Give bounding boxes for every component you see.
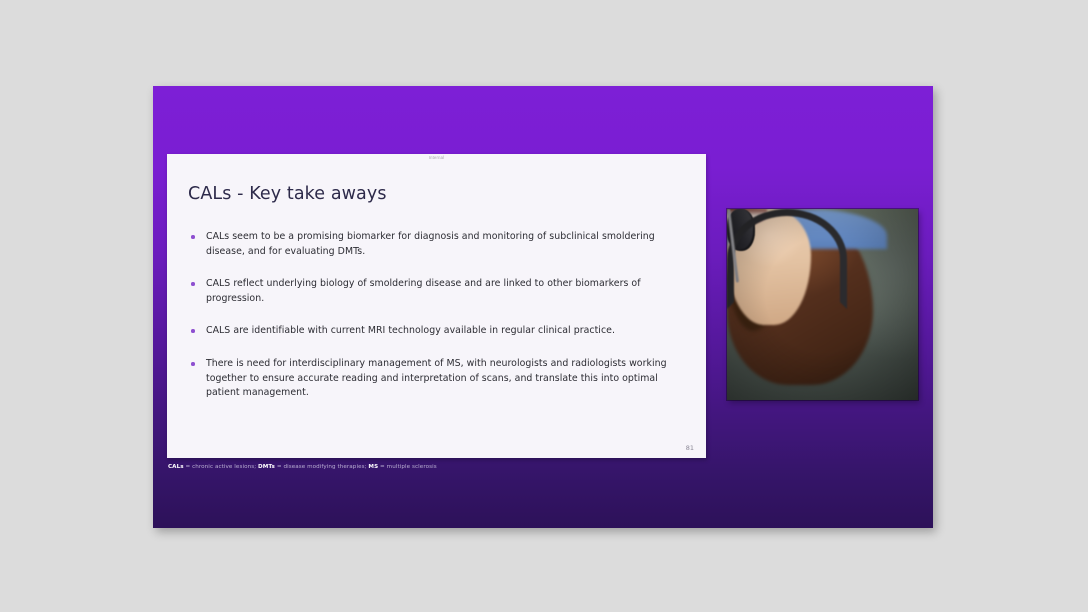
bullet-text: There is need for interdisciplinary mana… — [206, 358, 667, 398]
list-item: CALS are identifiable with current MRI t… — [188, 324, 688, 339]
bullet-dot-icon — [191, 235, 195, 239]
slide-title: CALs - Key take aways — [188, 184, 387, 204]
footnote-term: DMTs — [258, 464, 275, 470]
bullet-text: CALs seem to be a promising biomarker fo… — [206, 231, 655, 257]
list-item: CALs seem to be a promising biomarker fo… — [188, 230, 688, 259]
bullet-text: CALS reflect underlying biology of smold… — [206, 278, 641, 304]
footnote-term: CALs — [168, 464, 184, 470]
bullet-dot-icon — [191, 329, 195, 333]
list-item: There is need for interdisciplinary mana… — [188, 357, 688, 401]
footnote-definition: = chronic active lesions; — [184, 464, 258, 470]
footnote-definition: = disease modifying therapies; — [275, 464, 368, 470]
slide-content-card: Internal CALs - Key take aways CALs seem… — [167, 154, 706, 458]
slide-bullet-list: CALs seem to be a promising biomarker fo… — [188, 230, 688, 419]
screen-share-canvas: Internal CALs - Key take aways CALs seem… — [0, 0, 1088, 612]
classification-label: Internal — [167, 155, 706, 160]
bullet-text: CALS are identifiable with current MRI t… — [206, 325, 615, 336]
footnote-term: MS — [368, 464, 378, 470]
bullet-dot-icon — [191, 282, 195, 286]
presenter-video-tile[interactable] — [727, 209, 918, 400]
bullet-dot-icon — [191, 362, 195, 366]
video-vignette — [727, 209, 918, 400]
list-item: CALS reflect underlying biology of smold… — [188, 277, 688, 306]
slide-footnote: CALs = chronic active lesions; DMTs = di… — [168, 463, 437, 471]
slide-page-number: 81 — [686, 444, 694, 452]
shared-slide[interactable]: Internal CALs - Key take aways CALs seem… — [153, 86, 933, 528]
footnote-definition: = multiple sclerosis — [378, 464, 437, 470]
